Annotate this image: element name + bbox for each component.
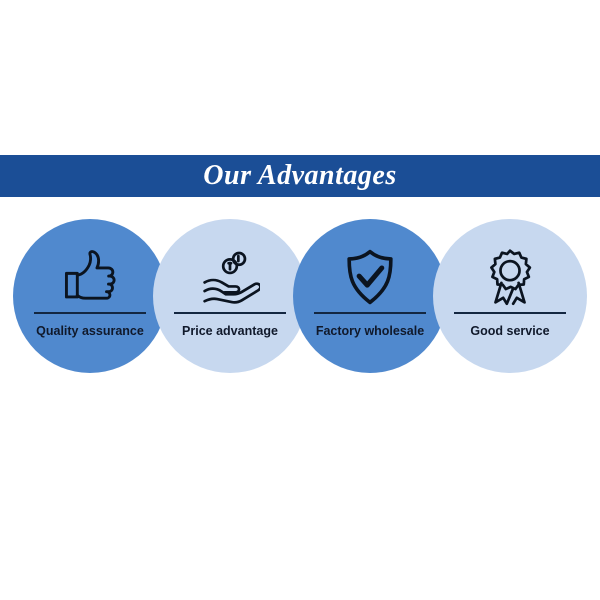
card-divider (454, 312, 566, 314)
advantage-card-label: Good service (433, 323, 587, 339)
advantage-card-factory-wholesale[interactable]: Factory wholesale (293, 219, 447, 373)
advantage-card-price-advantage[interactable]: Price advantage (153, 219, 307, 373)
section-banner: Our Advantages (0, 155, 600, 197)
shield-check-icon (340, 248, 400, 306)
award-ribbon-icon (480, 248, 540, 306)
hand-holding-coins-icon (200, 248, 260, 306)
card-divider (34, 312, 146, 314)
thumbs-up-icon (60, 248, 120, 306)
advantage-card-good-service[interactable]: Good service (433, 219, 587, 373)
advantage-card-quality-assurance[interactable]: Quality assurance (13, 219, 167, 373)
advantages-card-row: Quality assurance Price advantage (0, 219, 600, 375)
card-divider (314, 312, 426, 314)
advantages-graphic: Our Advantages Quality assurance (0, 0, 600, 600)
advantage-card-label: Quality assurance (13, 323, 167, 339)
advantage-card-label: Price advantage (153, 323, 307, 339)
card-divider (174, 312, 286, 314)
page-title: Our Advantages (203, 162, 396, 190)
advantage-card-label: Factory wholesale (293, 323, 447, 339)
